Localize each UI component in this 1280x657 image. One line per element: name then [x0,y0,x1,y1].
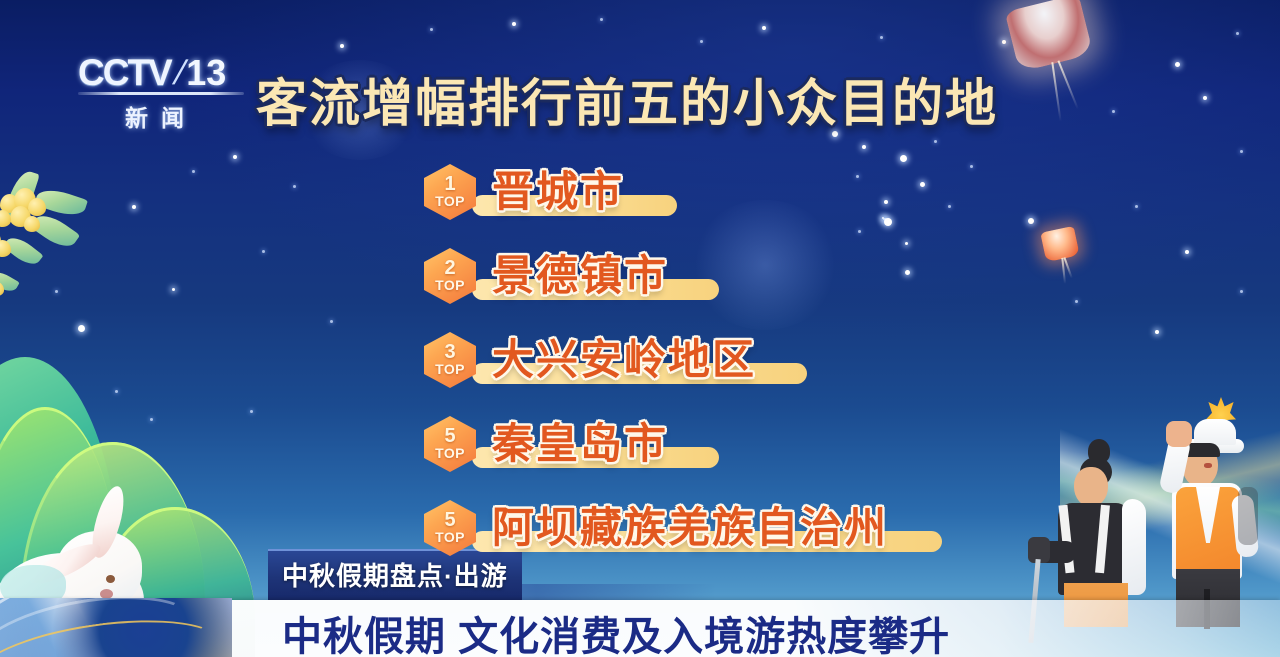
rank-top-label: TOP [435,362,465,377]
city-name: 阿坝藏族羌族自治州 [470,502,904,554]
category-badge: 中秋假期盘点·出游 [268,549,522,600]
city-name-wrap: 晋城市 [470,166,640,218]
city-name-wrap: 阿坝藏族羌族自治州 [470,502,904,554]
rank-badge: 3 TOP [424,332,476,388]
page-title: 客流增幅排行前五的小众目的地 [256,62,998,136]
sky-lantern-icon [1040,226,1079,262]
osmanthus-flower-icon [0,178,104,308]
rank-number: 3 [444,343,455,362]
rank-badge: 5 TOP [424,500,476,556]
headline-text: 中秋假期 文化消费及入境游热度攀升 [282,604,950,657]
ranking-list: 1 TOP 晋城市 2 TOP 景德镇市 3 TOP [424,166,904,586]
city-name: 秦皇岛市 [470,418,684,470]
rank-number: 5 [444,511,455,530]
logo-channel-number: 13 [186,52,226,94]
city-name: 大兴安岭地区 [470,334,772,386]
rank-badge: 2 TOP [424,248,476,304]
sky-lantern-icon [1005,0,1094,72]
rank-top-label: TOP [435,194,465,209]
city-name-wrap: 大兴安岭地区 [470,334,772,386]
rank-number: 5 [444,427,455,446]
news-globe-graphic [0,598,232,657]
list-item: 1 TOP 晋城市 [424,166,904,218]
cctv-channel-logo: CCTV / 13 新闻 [78,52,244,133]
broadcast-screen: CCTV / 13 新闻 客流增幅排行前五的小众目的地 1 TOP 晋城市 2 … [0,0,1280,657]
rank-top-label: TOP [435,530,465,545]
list-item: 3 TOP 大兴安岭地区 [424,334,904,386]
city-name: 晋城市 [470,166,640,218]
logo-channel-name-cn: 新闻 [78,99,244,133]
mountain-silhouette [0,187,250,657]
list-item: 5 TOP 秦皇岛市 [424,418,904,470]
rank-top-label: TOP [435,446,465,461]
rank-badge: 1 TOP [424,164,476,220]
rank-number: 1 [444,175,455,194]
rank-top-label: TOP [435,278,465,293]
list-item: 2 TOP 景德镇市 [424,250,904,302]
logo-cctv-text: CCTV [78,52,171,94]
rank-badge: 5 TOP [424,416,476,472]
list-item: 5 TOP 阿坝藏族羌族自治州 [424,502,904,554]
city-name: 景德镇市 [470,250,684,302]
city-name-wrap: 景德镇市 [470,250,684,302]
rank-number: 2 [444,259,455,278]
lower-third-bar: 中秋假期 文化消费及入境游热度攀升 [0,600,1280,657]
city-name-wrap: 秦皇岛市 [470,418,684,470]
